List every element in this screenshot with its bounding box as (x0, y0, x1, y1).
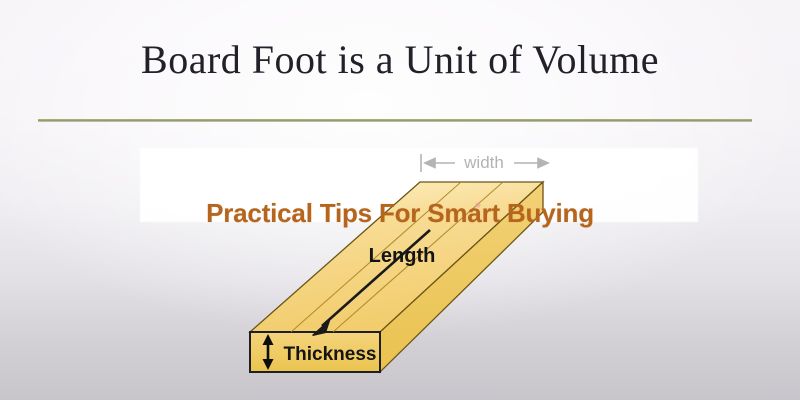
length-label: Length (369, 245, 436, 267)
width-label: width (463, 153, 504, 172)
page-title: Board Foot is a Unit of Volume (0, 36, 800, 83)
slide-canvas: width Lengt (0, 0, 800, 400)
title-divider (38, 119, 752, 122)
subtitle: Practical Tips For Smart Buying (0, 198, 800, 229)
thickness-label: Thickness (284, 344, 377, 365)
